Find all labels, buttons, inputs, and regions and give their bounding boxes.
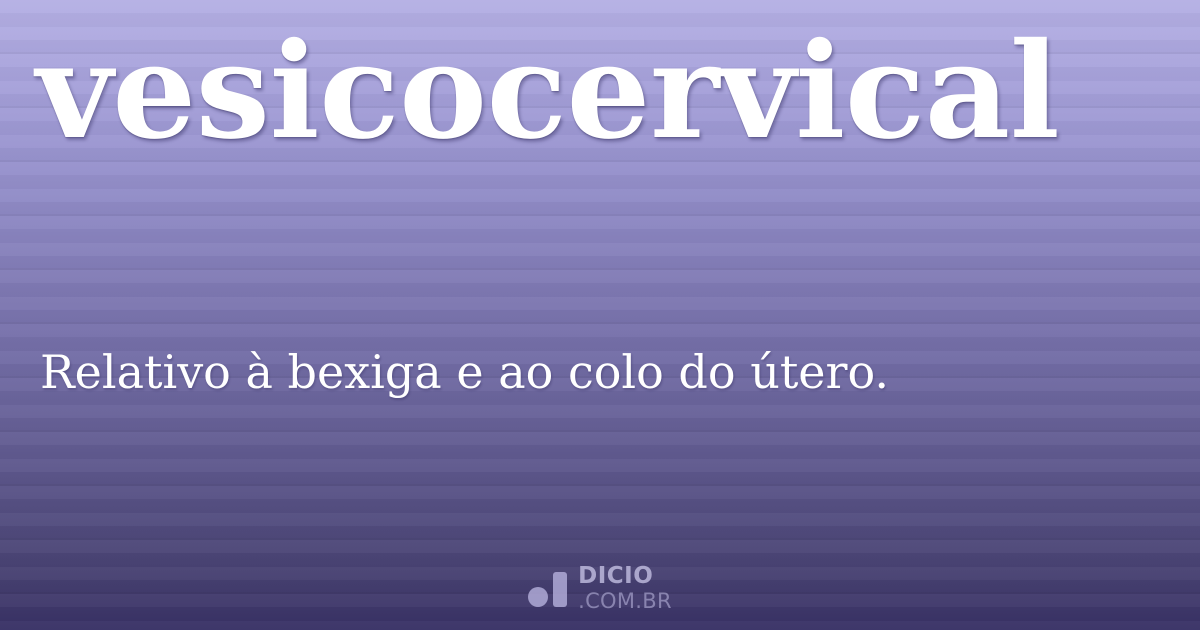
dictionary-entry-card: vesicocervical Relativo à bexiga e ao co… [0,0,1200,630]
logo-wordmark: DICIO .COM.BR [578,565,672,612]
circle-dot-icon [528,587,548,607]
headword: vesicocervical [36,26,1164,158]
logo-brand-domain: .COM.BR [578,591,672,612]
logo-mark [528,571,567,607]
headword-container: vesicocervical [0,26,1200,158]
site-logo[interactable]: DICIO .COM.BR [0,565,1200,612]
logo-brand-name: DICIO [578,565,672,588]
definition-text: Relativo à bexiga e ao colo do útero. [40,345,1160,399]
rounded-bar-icon [553,572,567,607]
definition-container: Relativo à bexiga e ao colo do útero. [0,345,1200,399]
